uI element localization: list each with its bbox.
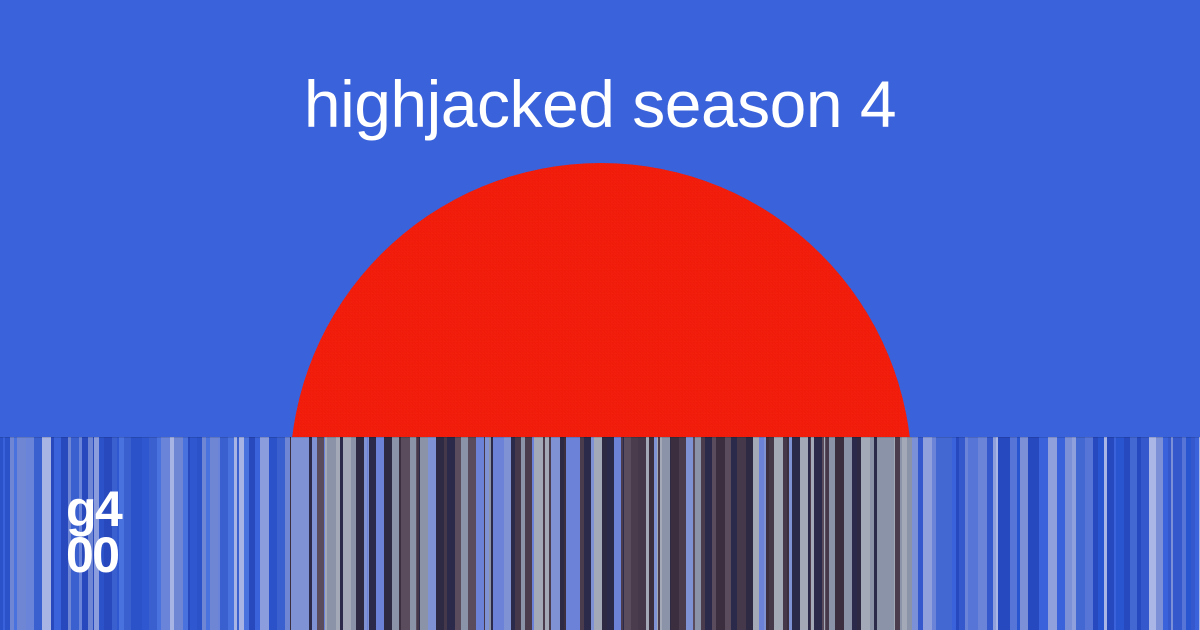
stripe-bar [737, 437, 746, 630]
logo-line-top: g4 [66, 486, 121, 532]
red-sun-circle [290, 163, 912, 437]
stripe-bar [376, 437, 384, 630]
stripe-bar [800, 437, 808, 630]
stripe-bar [1039, 437, 1048, 630]
stripe-bar [1020, 437, 1028, 630]
stripe-bar [835, 437, 844, 630]
stripe-bar [42, 437, 51, 630]
stripe-bar [1048, 437, 1057, 630]
stripe-bar [1107, 437, 1114, 630]
stripe-bar [844, 437, 852, 630]
stripe-bar [746, 437, 753, 630]
stripe-bar [774, 437, 783, 630]
stripe-bar [943, 437, 952, 630]
stripe-bar [885, 437, 894, 630]
stripe-bar [1010, 437, 1017, 630]
stripe-bar [135, 437, 142, 630]
stripe-bar [814, 437, 822, 630]
stripe-bar [573, 437, 580, 630]
stripe-bar [525, 437, 532, 630]
stripe-bar [1076, 437, 1085, 630]
stripe-bar [1141, 437, 1149, 630]
stripe-bar [584, 437, 591, 630]
stripe-bar [300, 437, 309, 630]
brand-logo: g4 00 [66, 486, 121, 578]
stripe-bar [493, 437, 501, 630]
stripe-bar [551, 437, 560, 630]
stripe-bar [190, 437, 197, 630]
stripe-bar [392, 437, 399, 630]
stripe-bar [1130, 437, 1137, 630]
stripe-bar [210, 437, 218, 630]
stripe-bar [1065, 437, 1072, 630]
stripe-bar [220, 437, 228, 630]
stripe-bar [343, 437, 351, 630]
stripe-bar [686, 437, 693, 630]
stripe-bar [261, 437, 269, 630]
stripe-bar [566, 437, 573, 630]
stripe-bar [998, 437, 1005, 630]
stripe-bar [716, 437, 725, 630]
stripe-bar [861, 437, 870, 630]
stripe-bar [149, 437, 157, 630]
stripe-bar [369, 437, 376, 630]
stripe-bar [534, 437, 543, 630]
stripe-bar [1057, 437, 1065, 630]
page-title: highjacked season 4 [0, 66, 1200, 142]
stripe-bar [142, 437, 149, 630]
stripe-bar [269, 437, 277, 630]
stripe-bar [327, 437, 336, 630]
stripe-bar [54, 437, 61, 630]
stripe-bar [476, 437, 484, 630]
stripe-bar [17, 437, 26, 630]
sun-grain-texture [290, 163, 912, 437]
stripe-bar [607, 437, 614, 630]
stripe-bar [401, 437, 410, 630]
stripe-bar [969, 437, 978, 630]
stripe-bar [1149, 437, 1156, 630]
stripe-bar [291, 437, 300, 630]
stripe-bar [936, 437, 943, 630]
stripe-bar [174, 437, 183, 630]
stripe-bar [1156, 437, 1163, 630]
stripe-bar [420, 437, 428, 630]
stripe-bar [679, 437, 686, 630]
stripe-bar [436, 437, 444, 630]
stripe-bar [671, 437, 679, 630]
stripe-bar [277, 437, 285, 630]
stripe-bar [384, 437, 392, 630]
stripe-bar [447, 437, 455, 630]
stripe-bar [1173, 437, 1182, 630]
band-top-edge [0, 437, 1200, 438]
stripe-bar [705, 437, 712, 630]
stripe-bar [356, 437, 364, 630]
poster-canvas: highjacked season 4 g4 00 [0, 0, 1200, 630]
stripe-bar [468, 437, 476, 630]
stripe-bar [504, 437, 511, 630]
stripe-bar [978, 437, 987, 630]
stripe-bar [614, 437, 621, 630]
stripe-bar [638, 437, 646, 630]
stripe-bar [923, 437, 932, 630]
stripe-bar [624, 437, 631, 630]
striped-band [0, 437, 1200, 630]
stripe-bar [26, 437, 34, 630]
stripe-bar [461, 437, 468, 630]
stripe-bar [317, 437, 324, 630]
stripe-bar [792, 437, 800, 630]
stripe-bar [877, 437, 885, 630]
stripe-bar [1028, 437, 1037, 630]
stripe-bar [428, 437, 436, 630]
stripe-bar [124, 437, 131, 630]
stripe-bar [662, 437, 670, 630]
stripe-bar [161, 437, 170, 630]
stripe-bar [594, 437, 602, 630]
stripe-bar [631, 437, 638, 630]
stripe-bar [34, 437, 42, 630]
logo-line-bottom: 00 [66, 532, 121, 578]
stripe-bar [1085, 437, 1093, 630]
